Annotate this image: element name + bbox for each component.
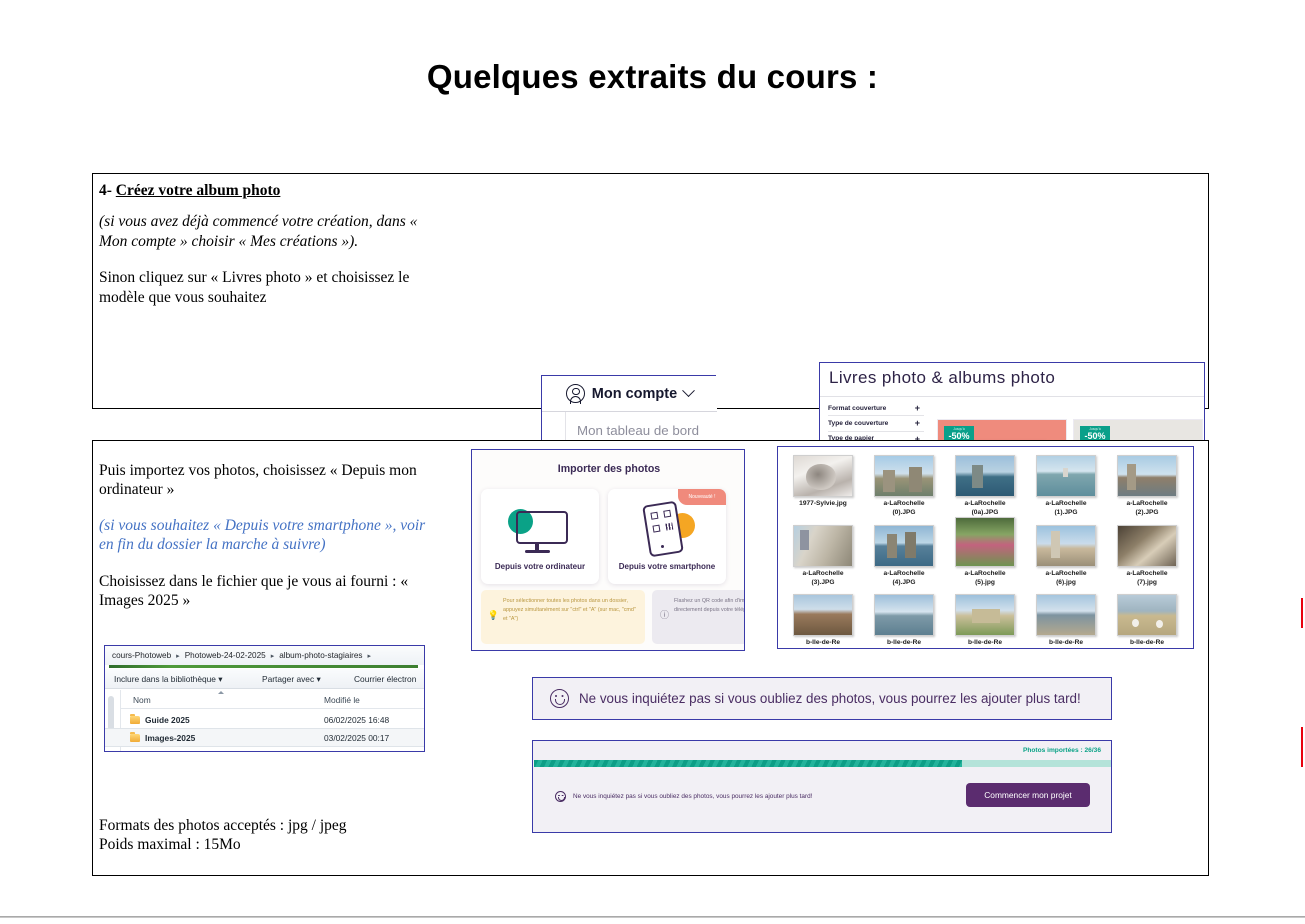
photo-thumbnail <box>874 525 934 567</box>
photo-item[interactable]: a-LaRochelle (1).JPG <box>1027 455 1105 517</box>
table-row[interactable]: Images-2025 03/02/2025 00:17 <box>105 729 425 746</box>
photo-item[interactable]: a-LaRochelle (0).JPG <box>865 455 943 517</box>
command-email[interactable]: Courrier électron <box>354 674 416 684</box>
panel-one-heading-text: Créez votre album photo <box>116 182 281 199</box>
table-row[interactable]: Guide 2025 06/02/2025 16:48 <box>105 711 425 728</box>
photo-filename: a-LaRochelle (5).jpg <box>946 570 1024 587</box>
breadcrumb[interactable]: cours-Photoweb ▸ Photoweb-24-02-2025 ▸ a… <box>105 646 425 665</box>
photo-thumbnail <box>793 594 853 636</box>
filter-label: Type de couverture <box>828 420 888 427</box>
import-option-computer-label: Depuis votre ordinateur <box>481 562 599 571</box>
breadcrumb-item-1[interactable]: Photoweb-24-02-2025 <box>185 651 266 660</box>
photo-thumbnail <box>1036 594 1096 636</box>
photo-thumbnail <box>1117 525 1177 567</box>
progress-bar-fill <box>534 760 962 767</box>
divider <box>820 396 1205 397</box>
user-circle-icon <box>566 384 585 403</box>
notice-text: Ne vous inquiétez pas si vous oubliez de… <box>579 691 1081 706</box>
folder-icon <box>130 716 140 724</box>
plus-icon: + <box>915 418 924 428</box>
panel-one-heading: 4- Créez votre album photo <box>99 181 439 200</box>
photo-item[interactable]: b-Ile-de-Re (5).JPG <box>1108 594 1186 649</box>
photo-filename: a-LaRochelle (0a).JPG <box>946 500 1024 517</box>
filter-label: Format couverture <box>828 405 886 412</box>
photo-item[interactable]: a-LaRochelle (4).JPG <box>865 525 943 587</box>
photo-filename: b-Ile-de-Re (5).JPG <box>1108 639 1186 649</box>
breadcrumb-item-0[interactable]: cours-Photoweb <box>112 651 171 660</box>
page-title: Quelques extraits du cours : <box>0 58 1305 96</box>
reassurance-notice-screenshot: Ne vous inquiétez pas si vous oubliez de… <box>532 677 1112 720</box>
import-option-smartphone-label: Depuis votre smartphone <box>608 562 726 571</box>
import-option-computer[interactable]: Depuis votre ordinateur <box>481 489 599 584</box>
photo-thumbnail <box>955 594 1015 636</box>
photo-filename: a-LaRochelle (7).jpg <box>1108 570 1186 587</box>
formats-line: Formats des photos acceptés : jpg / jpeg <box>99 816 439 835</box>
bottom-divider <box>0 916 1305 918</box>
photo-thumbnail <box>1036 525 1096 567</box>
photo-filename: a-LaRochelle (1).JPG <box>1027 500 1105 517</box>
smiley-icon <box>550 689 569 708</box>
progress-notice: Ne vous inquiétez pas si vous oubliez de… <box>555 791 812 802</box>
progress-stripe <box>109 665 418 668</box>
command-share-with[interactable]: Partager avec ▾ <box>262 674 321 684</box>
photo-item[interactable]: a-LaRochelle (5).jpg <box>946 517 1024 587</box>
photo-item[interactable]: a-LaRochelle (0a).JPG <box>946 455 1024 517</box>
smartphone-qr-icon <box>638 503 698 557</box>
imported-photos-grid-screenshot: 1977-Sylvie.jpg a-LaRochelle (0).JPG a-L… <box>777 446 1194 649</box>
photo-thumbnail <box>955 517 1015 567</box>
chevron-down-icon <box>682 384 695 397</box>
photo-thumbnail <box>874 594 934 636</box>
file-explorer-screenshot: cours-Photoweb ▸ Photoweb-24-02-2025 ▸ a… <box>104 645 425 752</box>
photo-item[interactable]: b-Ile-de-Re (1).JPG <box>784 594 862 649</box>
photo-item[interactable]: a-LaRochelle (3).JPG <box>784 525 862 587</box>
photo-filename: a-LaRochelle (4).JPG <box>865 570 943 587</box>
panel-one-heading-prefix: 4- <box>99 182 116 199</box>
panel-two-footer-text: Formats des photos acceptés : jpg / jpeg… <box>99 816 439 855</box>
file-modified: 06/02/2025 16:48 <box>324 715 389 725</box>
photo-thumbnail <box>793 455 853 497</box>
photo-item[interactable]: b-Ile-de-Re (3).JPG <box>946 594 1024 649</box>
chevron-right-icon: ▸ <box>368 652 372 660</box>
photo-item[interactable]: a-LaRochelle (2).JPG <box>1108 455 1186 517</box>
monitor-icon <box>508 507 572 555</box>
folder-icon <box>130 734 140 742</box>
photo-filename: b-Ile-de-Re (3).JPG <box>946 639 1024 649</box>
weight-line: Poids maximal : 15Mo <box>99 835 439 854</box>
start-project-button[interactable]: Commencer mon projet <box>966 783 1090 807</box>
panel-two-intro: Puis importez vos photos, choisissez « D… <box>99 461 439 500</box>
import-dialog-title: Importer des photos <box>472 463 745 475</box>
file-modified: 03/02/2025 00:17 <box>324 733 389 743</box>
photo-item[interactable]: a-LaRochelle (7).jpg <box>1108 525 1186 587</box>
import-option-smartphone[interactable]: Nouveauté ! Depuis votre smartphone <box>608 489 726 584</box>
photo-thumbnail <box>955 455 1015 497</box>
content-panel-create-album: 4- Créez votre album photo (si vous avez… <box>92 173 1209 409</box>
explorer-column-headers: Nom Modifié le <box>105 690 425 709</box>
photo-thumbnail <box>874 455 934 497</box>
photo-filename: b-Ile-de-Re (2).JPG <box>865 639 943 649</box>
panel-two-choose: Choisissez dans le fichier que je vous a… <box>99 572 439 611</box>
question-mark-icon: ⓘ <box>659 610 670 621</box>
discount-badge-small: Jusqu'à <box>1080 427 1110 431</box>
photo-thumbnail <box>1117 594 1177 636</box>
red-edge-marker <box>1301 727 1303 767</box>
photo-item[interactable]: a-LaRochelle (6).jpg <box>1027 525 1105 587</box>
chevron-right-icon: ▸ <box>176 652 180 660</box>
lightbulb-icon: 💡 <box>488 610 499 621</box>
hint-select-all: 💡 Pour sélectionner toutes les photos da… <box>481 590 645 644</box>
photo-item[interactable]: b-Ile-de-Re (2).JPG <box>865 594 943 649</box>
import-progress-screenshot: Photos importées : 26/36 Ne vous inquiét… <box>532 740 1112 833</box>
books-catalog-title: Livres photo & albums photo <box>829 368 1055 388</box>
discount-badge-small: Jusqu'à <box>944 427 974 431</box>
photo-item[interactable]: 1977-Sylvie.jpg <box>784 455 862 509</box>
photo-filename: b-Ile-de-Re (1).JPG <box>784 639 862 649</box>
import-photos-dialog-screenshot: Importer des photos Depuis votre ordinat… <box>471 449 745 651</box>
file-name: Guide 2025 <box>145 715 190 725</box>
panel-two-text-column: Puis importez vos photos, choisissez « D… <box>99 448 439 610</box>
account-menu-label: Mon compte <box>592 386 677 402</box>
photo-filename: a-LaRochelle (6).jpg <box>1027 570 1105 587</box>
photo-filename: 1977-Sylvie.jpg <box>784 500 862 509</box>
hint-qr-code-text: Flashez un QR code afin d'importer des p… <box>674 598 745 613</box>
photo-item[interactable]: b-Ile-de-Re (4).JPG <box>1027 594 1105 649</box>
smiley-icon <box>555 791 566 802</box>
chevron-right-icon: ▸ <box>271 652 275 660</box>
progress-bar-track <box>534 760 1112 767</box>
imported-count-label: Photos importées : 26/36 <box>1023 747 1101 754</box>
panel-one-text-column: 4- Créez votre album photo (si vous avez… <box>99 181 439 307</box>
explorer-command-bar: Inclure dans la bibliothèque ▾ Partager … <box>105 669 425 689</box>
photo-filename: a-LaRochelle (2).JPG <box>1108 500 1186 517</box>
photo-thumbnail <box>1036 455 1096 497</box>
file-name: Images-2025 <box>145 733 195 743</box>
filter-format-couverture[interactable]: Format couverture + <box>828 401 924 416</box>
panel-one-note: (si vous avez déjà commencé votre créati… <box>99 212 439 251</box>
hint-qr-code: ⓘ Flashez un QR code afin d'importer des… <box>652 590 745 644</box>
progress-notice-text: Ne vous inquiétez pas si vous oubliez de… <box>573 793 812 800</box>
command-include-library[interactable]: Inclure dans la bibliothèque ▾ <box>114 674 223 684</box>
photo-filename: a-LaRochelle (3).JPG <box>784 570 862 587</box>
photo-thumbnail <box>793 525 853 567</box>
photo-filename: a-LaRochelle (0).JPG <box>865 500 943 517</box>
photo-filename: b-Ile-de-Re (4).JPG <box>1027 639 1105 649</box>
plus-icon: + <box>915 403 924 413</box>
red-edge-marker <box>1301 598 1303 628</box>
hint-select-all-text: Pour sélectionner toutes les photos dans… <box>503 598 636 622</box>
breadcrumb-item-2[interactable]: album-photo-stagiaires <box>279 651 362 660</box>
column-header-name[interactable]: Nom <box>133 695 151 705</box>
filter-type-couverture[interactable]: Type de couverture + <box>828 416 924 431</box>
account-menu-button[interactable]: Mon compte <box>542 376 717 412</box>
column-header-modified[interactable]: Modifié le <box>324 695 360 705</box>
photo-thumbnail <box>1117 455 1177 497</box>
panel-one-instruction: Sinon cliquez sur « Livres photo » et ch… <box>99 268 439 307</box>
sort-ascending-icon <box>218 691 224 694</box>
panel-two-note-blue: (si vous souhaitez « Depuis votre smartp… <box>99 516 439 555</box>
